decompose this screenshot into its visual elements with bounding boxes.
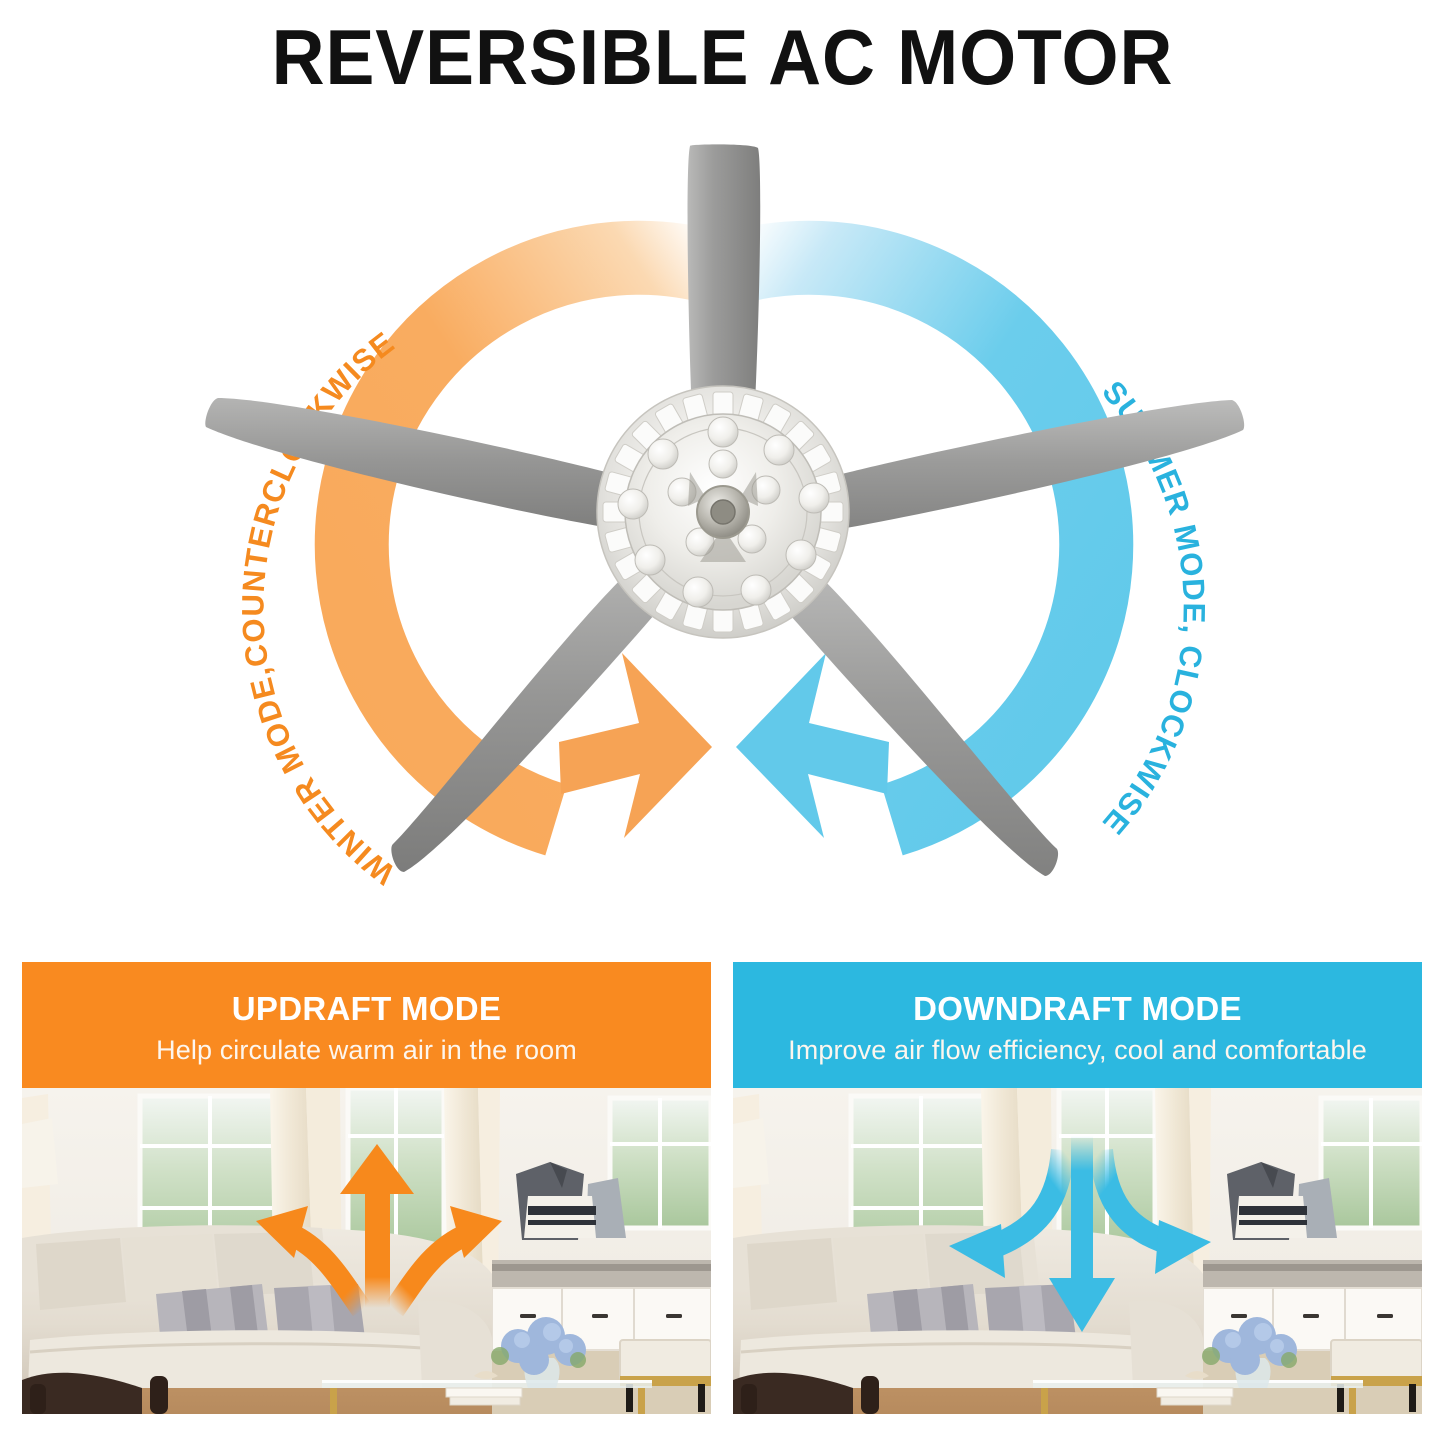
panel-downdraft-photo: [733, 1088, 1422, 1414]
reversible-motor-diagram: WINTER MODE,COUNTERCLOCKWISE SUMMER MODE…: [0, 130, 1445, 940]
page-title-container: REVERSIBLE AC MOTOR: [0, 18, 1445, 96]
panel-downdraft-band: DOWNDRAFT MODE Improve air flow efficien…: [733, 962, 1422, 1088]
panel-downdraft-title: DOWNDRAFT MODE: [913, 991, 1242, 1027]
panel-updraft-band: UPDRAFT MODE Help circulate warm air in …: [22, 962, 711, 1088]
panel-updraft-photo: [22, 1088, 711, 1414]
panel-updraft-title: UPDRAFT MODE: [232, 991, 501, 1027]
living-room-scene-downdraft: [733, 1088, 1422, 1414]
panel-updraft-subtitle: Help circulate warm air in the room: [156, 1036, 577, 1066]
mode-panels: UPDRAFT MODE Help circulate warm air in …: [22, 962, 1423, 1414]
page-title: REVERSIBLE AC MOTOR: [43, 18, 1401, 96]
panel-downdraft-subtitle: Improve air flow efficiency, cool and co…: [788, 1036, 1367, 1066]
living-room-scene-updraft: [22, 1088, 711, 1414]
panel-downdraft[interactable]: DOWNDRAFT MODE Improve air flow efficien…: [733, 962, 1422, 1414]
panel-updraft[interactable]: UPDRAFT MODE Help circulate warm air in …: [22, 962, 711, 1414]
